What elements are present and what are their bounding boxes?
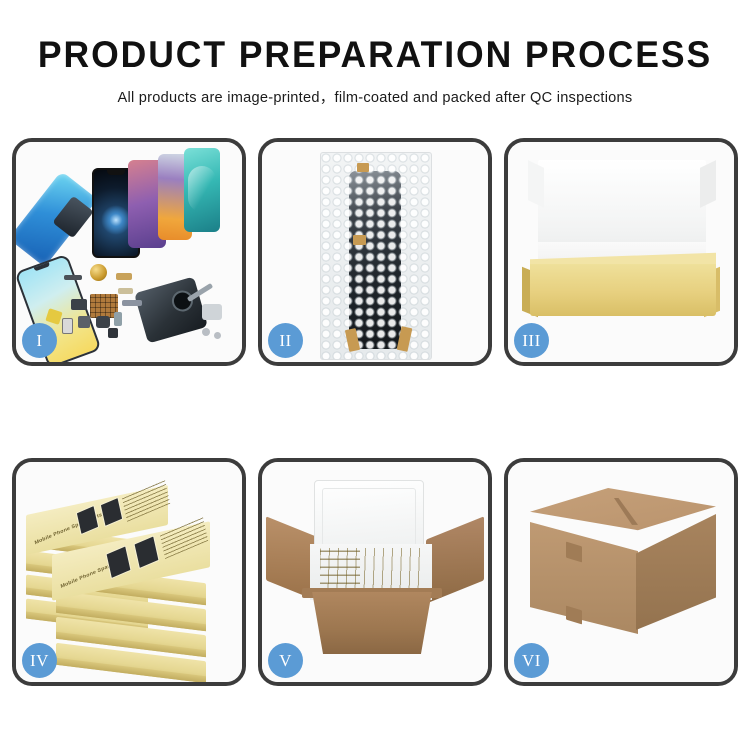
carton-front-face-icon	[530, 522, 638, 634]
bubble-wrap-bag	[320, 152, 432, 360]
step-badge-1: I	[22, 323, 57, 358]
part-icon	[108, 328, 118, 338]
part-icon	[78, 316, 90, 328]
process-step-panel-3[interactable]: III	[504, 138, 738, 366]
carton-front-icon	[304, 592, 440, 654]
box-screen-print-icon	[133, 535, 159, 569]
part-icon	[62, 318, 73, 334]
part-icon	[116, 273, 132, 280]
page-subtitle: All products are image-printed，film-coat…	[0, 86, 750, 107]
screw-icon	[214, 332, 221, 339]
box-screen-print-icon	[76, 505, 100, 535]
part-icon	[118, 288, 133, 294]
foam-lid-icon	[314, 480, 424, 554]
yellow-boxes-stacked-icon	[320, 548, 360, 592]
step-badge-3: III	[514, 323, 549, 358]
step-badge-2: II	[268, 323, 303, 358]
camera-lens-icon	[169, 288, 195, 314]
page-title: PRODUCT PREPARATION PROCESS	[15, 36, 735, 73]
tape-icon	[353, 235, 366, 245]
carton-side-face-icon	[636, 514, 716, 630]
process-step-grid: I II III	[12, 138, 738, 686]
part-icon	[114, 312, 122, 326]
screw-icon	[202, 328, 210, 336]
tape-icon	[357, 163, 369, 172]
part-icon	[202, 304, 222, 320]
box-screen-print-icon	[105, 545, 131, 579]
teal-phone-icon	[184, 148, 220, 232]
process-step-panel-6[interactable]: VI	[504, 458, 738, 686]
process-step-panel-5[interactable]: V	[258, 458, 492, 686]
yellow-box-front-icon	[530, 264, 716, 316]
stacked-boxes: Mobile Phone Spare Parts Mobile Phone Sp…	[24, 478, 236, 674]
process-step-panel-1[interactable]: I	[12, 138, 246, 366]
page-header: PRODUCT PREPARATION PROCESS All products…	[0, 0, 750, 107]
gold-coil-part-icon	[90, 264, 107, 281]
step-badge-5: V	[268, 643, 303, 678]
step-badge-6: VI	[514, 643, 549, 678]
box-screen-print-icon	[100, 497, 124, 527]
part-icon	[71, 299, 87, 310]
part-icon	[96, 316, 110, 328]
box-spec-lines	[122, 479, 170, 522]
part-icon	[122, 300, 142, 306]
process-step-panel-2[interactable]: II	[258, 138, 492, 366]
part-icon	[64, 275, 82, 280]
bubble-texture	[321, 153, 431, 359]
phone-back-housing-icon	[134, 276, 208, 343]
process-step-panel-4[interactable]: Mobile Phone Spare Parts Mobile Phone Sp…	[12, 458, 246, 686]
step-badge-4: IV	[22, 643, 57, 678]
